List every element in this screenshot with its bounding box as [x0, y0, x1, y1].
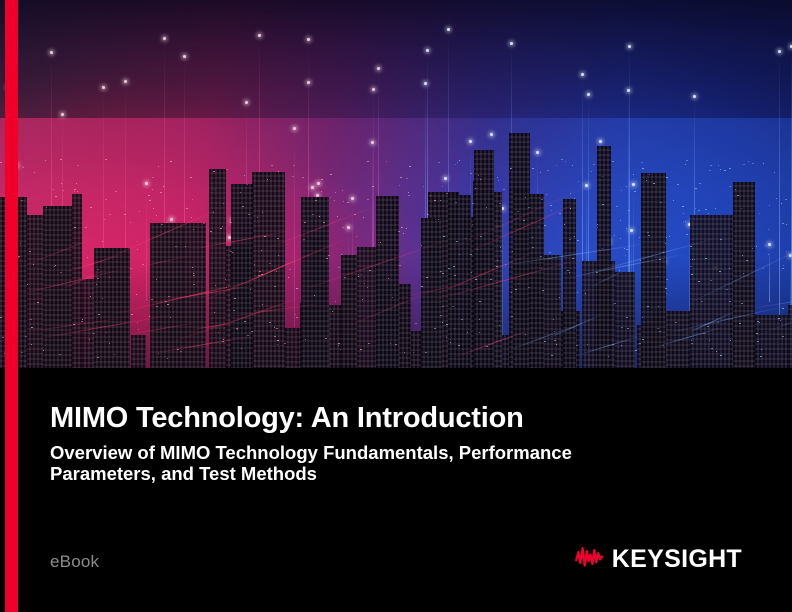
window-light: [683, 222, 684, 223]
window-light: [170, 161, 172, 162]
window-light: [330, 174, 332, 175]
window-light: [284, 343, 286, 344]
window-light: [614, 303, 616, 304]
window-light: [561, 159, 563, 160]
window-light: [628, 210, 630, 211]
window-light: [686, 234, 688, 235]
window-light: [269, 322, 271, 323]
window-light: [640, 260, 641, 261]
window-light: [210, 231, 212, 232]
window-light: [97, 357, 99, 358]
window-light: [244, 175, 245, 176]
window-light: [532, 168, 534, 169]
window-light: [130, 277, 131, 278]
window-light: [277, 340, 279, 341]
window-light: [408, 192, 409, 193]
beam-cap: [377, 67, 380, 70]
window-light: [338, 345, 339, 346]
window-light: [409, 166, 411, 167]
window-light: [242, 206, 244, 207]
window-light: [783, 265, 784, 266]
window-light: [550, 205, 552, 206]
window-light: [406, 178, 408, 179]
window-light: [726, 289, 728, 290]
window-light: [230, 222, 232, 223]
beam-cap: [587, 93, 590, 96]
window-light: [338, 267, 340, 268]
window-light: [203, 223, 205, 224]
window-light: [21, 352, 23, 353]
window-light: [768, 254, 769, 255]
window-light: [612, 161, 614, 162]
hero-city-skyline: [0, 118, 792, 368]
window-light: [542, 290, 544, 291]
window-light: [626, 249, 628, 250]
window-light: [782, 223, 784, 224]
window-light: [312, 214, 314, 215]
window-light: [528, 207, 530, 208]
window-light: [55, 196, 57, 197]
window-light: [338, 343, 340, 344]
window-light: [556, 165, 557, 166]
window-light: [597, 224, 598, 225]
page-subtitle: Overview of MIMO Technology Fundamentals…: [50, 442, 660, 484]
window-light: [786, 251, 787, 252]
window-light: [763, 163, 764, 164]
window-light: [456, 241, 458, 242]
window-light: [517, 211, 519, 212]
skyline-tower: [376, 196, 399, 368]
window-light: [271, 165, 273, 166]
window-light: [403, 233, 404, 234]
window-light: [685, 221, 686, 222]
window-light: [440, 271, 442, 272]
window-light: [551, 210, 552, 211]
window-light: [160, 192, 162, 193]
window-light: [193, 284, 195, 285]
window-light: [278, 255, 279, 256]
window-light: [691, 340, 692, 341]
window-light: [398, 231, 400, 232]
window-light: [326, 258, 328, 259]
window-light: [585, 293, 586, 294]
window-light: [565, 161, 566, 162]
window-light: [97, 278, 99, 279]
window-light: [685, 164, 686, 165]
window-light: [781, 203, 782, 204]
window-light: [328, 255, 330, 256]
window-light: [319, 216, 320, 217]
window-light: [578, 181, 579, 182]
window-light: [367, 161, 369, 162]
window-light: [342, 227, 344, 228]
window-light: [785, 199, 787, 200]
window-light: [682, 206, 684, 207]
window-light: [729, 186, 731, 187]
window-light: [34, 172, 35, 173]
window-light: [2, 337, 4, 338]
window-light: [653, 183, 655, 184]
beam-cap: [693, 95, 696, 98]
window-light: [337, 216, 338, 217]
window-light: [720, 239, 722, 240]
window-light: [421, 245, 422, 246]
window-light: [497, 260, 498, 261]
window-light: [124, 214, 126, 215]
window-light: [186, 208, 188, 209]
window-light: [74, 189, 76, 190]
window-light: [137, 322, 138, 323]
window-light: [408, 195, 410, 196]
window-light: [748, 161, 749, 162]
window-light: [709, 170, 711, 171]
window-light: [293, 165, 295, 166]
window-light: [443, 236, 445, 237]
window-light: [511, 316, 513, 317]
window-light: [230, 251, 232, 252]
window-light: [669, 236, 670, 237]
ebook-cover-page: MIMO Technology: An Introduction Overvie…: [0, 0, 792, 612]
skyline-building: [788, 305, 792, 368]
window-light: [215, 285, 216, 286]
window-light: [442, 186, 443, 187]
window-light: [190, 177, 192, 178]
window-light: [448, 268, 450, 269]
keysight-logo: KEYSIGHT: [575, 546, 742, 573]
window-light: [0, 162, 2, 163]
window-light: [232, 252, 233, 253]
window-light: [540, 172, 541, 173]
window-light: [109, 277, 110, 278]
skyline-building: [327, 305, 341, 368]
window-light: [625, 255, 626, 256]
window-light: [406, 228, 407, 229]
window-light: [136, 294, 137, 295]
window-light: [691, 343, 693, 344]
window-light: [730, 340, 731, 341]
window-light: [90, 207, 92, 208]
window-light: [274, 336, 276, 337]
window-light: [720, 169, 721, 170]
window-light: [715, 208, 716, 209]
window-light: [769, 205, 770, 206]
keysight-waveform-icon: [575, 546, 605, 573]
window-light: [699, 183, 701, 184]
window-light: [342, 190, 343, 191]
window-light: [138, 329, 139, 330]
window-light: [234, 298, 236, 299]
window-light: [167, 358, 168, 359]
window-light: [746, 260, 748, 261]
window-light: [399, 185, 400, 186]
window-light: [634, 191, 636, 192]
window-light: [74, 191, 75, 192]
window-light: [241, 348, 242, 349]
window-light: [532, 237, 533, 238]
window-light: [372, 186, 374, 187]
window-light: [321, 191, 322, 192]
window-light: [46, 207, 47, 208]
window-light: [33, 264, 34, 265]
window-light: [105, 159, 107, 160]
window-light: [45, 160, 46, 161]
window-light: [716, 351, 717, 352]
window-light: [778, 318, 780, 319]
window-light: [404, 352, 405, 353]
window-light: [96, 284, 97, 285]
window-light: [302, 177, 304, 178]
window-light: [765, 245, 766, 246]
window-light: [624, 248, 625, 249]
window-light: [720, 355, 722, 356]
window-light: [666, 293, 667, 294]
skyline-building: [615, 272, 635, 368]
window-light: [214, 312, 215, 313]
window-light: [289, 269, 291, 270]
window-light: [523, 220, 525, 221]
beam-cap: [426, 49, 429, 52]
window-light: [559, 297, 560, 298]
window-light: [457, 162, 458, 163]
window-light: [163, 186, 164, 187]
window-light: [470, 173, 472, 174]
window-light: [363, 217, 364, 218]
window-light: [415, 323, 417, 324]
window-light: [710, 280, 712, 281]
skyline-building: [94, 248, 130, 368]
window-light: [559, 213, 561, 214]
window-light: [347, 202, 349, 203]
window-light: [295, 314, 296, 315]
window-light: [400, 177, 402, 178]
window-light: [296, 288, 298, 289]
window-light: [274, 286, 276, 287]
window-light: [639, 343, 641, 344]
window-light: [686, 160, 688, 161]
window-light: [292, 176, 294, 177]
skyline-tower: [231, 184, 253, 368]
window-light: [707, 326, 709, 327]
window-light: [131, 314, 133, 315]
window-light: [549, 252, 551, 253]
left-accent-bar: [5, 0, 18, 612]
window-light: [334, 200, 335, 201]
window-light: [244, 321, 246, 322]
window-light: [724, 170, 726, 171]
document-type-label: eBook: [50, 552, 99, 572]
window-light: [440, 315, 442, 316]
window-light: [591, 171, 592, 172]
skyline-tower: [641, 173, 666, 368]
window-light: [109, 214, 111, 215]
hero-banner-image: [0, 0, 792, 368]
window-light: [743, 164, 745, 165]
window-light: [325, 338, 327, 339]
window-light: [31, 344, 32, 345]
window-light: [503, 189, 505, 190]
window-light: [729, 168, 731, 169]
window-light: [729, 301, 731, 302]
window-light: [76, 183, 77, 184]
window-light: [786, 224, 787, 225]
window-light: [648, 235, 650, 236]
window-light: [621, 190, 622, 191]
window-light: [741, 208, 742, 209]
window-light: [335, 192, 336, 193]
window-light: [149, 200, 151, 201]
window-light: [718, 165, 719, 166]
window-light: [446, 193, 448, 194]
window-light: [459, 160, 460, 161]
window-light: [658, 306, 659, 307]
window-light: [192, 199, 193, 200]
window-light: [314, 295, 315, 296]
window-light: [77, 165, 79, 166]
window-light: [768, 229, 769, 230]
window-light: [690, 246, 692, 247]
skyline-building: [252, 172, 285, 368]
window-light: [752, 248, 753, 249]
window-light: [541, 199, 543, 200]
window-light: [691, 274, 693, 275]
window-light: [660, 202, 662, 203]
window-light: [130, 222, 131, 223]
window-light: [677, 184, 679, 185]
window-light: [137, 249, 138, 250]
window-light: [423, 186, 424, 187]
window-light: [455, 164, 456, 165]
window-light: [367, 199, 369, 200]
window-light: [277, 238, 279, 239]
window-light: [225, 279, 226, 280]
beam-cap: [183, 55, 186, 58]
window-light: [98, 314, 100, 315]
window-light: [77, 191, 78, 192]
window-light: [358, 276, 359, 277]
window-light: [254, 264, 255, 265]
window-light: [191, 217, 192, 218]
skyline-tower: [448, 195, 471, 368]
window-light: [267, 179, 268, 180]
window-light: [641, 162, 643, 163]
window-light: [105, 199, 107, 200]
window-light: [544, 225, 546, 226]
window-light: [756, 246, 757, 247]
window-light: [277, 344, 278, 345]
window-light: [752, 163, 754, 164]
window-light: [616, 206, 618, 207]
window-light: [61, 183, 62, 184]
window-light: [288, 277, 289, 278]
beam-cap: [258, 34, 261, 37]
window-light: [497, 177, 498, 178]
window-light: [438, 162, 440, 163]
window-light: [137, 241, 138, 242]
window-light: [710, 165, 712, 166]
window-light: [401, 227, 403, 228]
skyline-building: [131, 335, 146, 368]
window-light: [102, 241, 103, 242]
window-light: [546, 194, 547, 195]
window-light: [152, 189, 153, 190]
window-light: [774, 172, 775, 173]
window-light: [619, 270, 620, 271]
window-light: [156, 306, 158, 307]
window-light: [602, 176, 603, 177]
skyline-tower: [563, 199, 576, 368]
window-light: [647, 306, 649, 307]
window-light: [158, 166, 159, 167]
window-light: [642, 168, 644, 169]
window-light: [683, 213, 684, 214]
window-light: [236, 328, 238, 329]
window-light: [218, 332, 219, 333]
window-light: [152, 177, 154, 178]
window-light: [695, 208, 696, 209]
window-light: [53, 189, 54, 190]
window-light: [666, 279, 668, 280]
window-light: [321, 179, 323, 180]
window-light: [63, 190, 64, 191]
window-light: [167, 304, 169, 305]
window-light: [741, 303, 743, 304]
window-light: [59, 354, 61, 355]
window-light: [156, 215, 157, 216]
window-light: [698, 210, 700, 211]
window-light: [626, 228, 627, 229]
window-light: [574, 198, 575, 199]
window-light: [386, 161, 387, 162]
skyline-building: [150, 223, 183, 368]
window-light: [577, 292, 578, 293]
window-light: [0, 317, 2, 318]
window-light: [547, 170, 549, 171]
window-light: [85, 227, 87, 228]
window-light: [305, 339, 306, 340]
beam-cap: [372, 88, 375, 91]
window-light: [226, 169, 228, 170]
page-title: MIMO Technology: An Introduction: [50, 402, 524, 435]
window-light: [369, 270, 371, 271]
window-light: [335, 301, 336, 302]
window-light: [695, 188, 697, 189]
window-light: [233, 310, 235, 311]
window-light: [106, 332, 107, 333]
window-light: [572, 165, 573, 166]
window-light: [572, 258, 574, 259]
cover-text-panel: MIMO Technology: An Introduction Overvie…: [0, 368, 792, 612]
window-light: [757, 341, 759, 342]
window-light: [148, 195, 150, 196]
window-light: [564, 224, 565, 225]
window-light: [222, 226, 223, 227]
skyline-tower: [474, 150, 494, 368]
window-light: [93, 333, 95, 334]
window-light: [614, 235, 615, 236]
window-light: [776, 198, 777, 199]
window-light: [330, 197, 331, 198]
window-light: [343, 201, 344, 202]
keysight-wordmark: KEYSIGHT: [612, 547, 742, 572]
window-light: [296, 317, 298, 318]
window-light: [705, 209, 707, 210]
skyline-building: [755, 315, 788, 368]
window-light: [620, 238, 621, 239]
window-light: [577, 240, 579, 241]
window-light: [168, 296, 170, 297]
window-light: [782, 308, 784, 309]
window-light: [356, 236, 357, 237]
